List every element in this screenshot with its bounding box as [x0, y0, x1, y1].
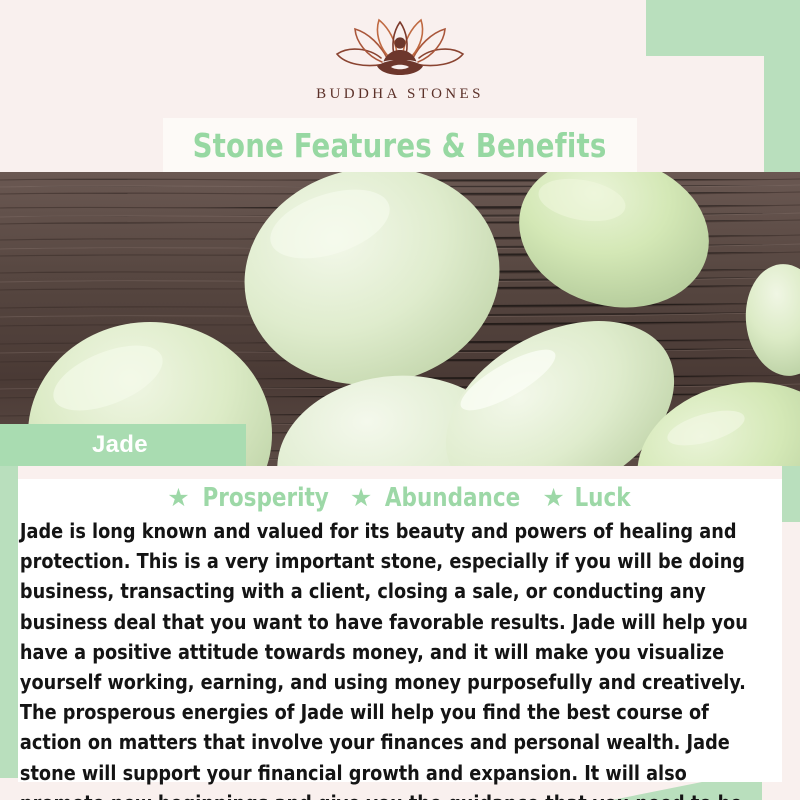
panel-top-strip — [18, 466, 782, 479]
title-banner: Stone Features & Benefits — [163, 118, 637, 172]
benefit-label: Luck — [574, 483, 630, 513]
stone-name-band: Jade — [0, 424, 246, 466]
benefit-item-prosperity: ★ Prosperity — [167, 483, 334, 513]
benefits-row: ★ Prosperity ★ Abundance ★ Luck — [18, 480, 782, 516]
jade-tumbled-stones-photo — [0, 172, 800, 466]
description-text: Jade is long known and valued for its be… — [18, 516, 755, 800]
stone-benefits-infographic: BUDDHA STONES Stone Features & Benefits — [0, 0, 800, 800]
star-icon: ★ — [350, 486, 372, 511]
benefit-label: Prosperity — [202, 483, 328, 513]
description-panel: ★ Prosperity ★ Abundance ★ Luck Jade is … — [18, 466, 782, 782]
lotus-meditation-logo-icon — [325, 16, 475, 82]
benefit-item-abundance: ★ Abundance — [350, 483, 527, 513]
page-title: Stone Features & Benefits — [193, 126, 607, 165]
benefit-item-luck: ★ Luck — [542, 483, 632, 513]
star-icon: ★ — [167, 486, 189, 511]
brand-name: BUDDHA STONES — [316, 86, 484, 103]
stone-name-label: Jade — [92, 431, 148, 459]
brand-header: BUDDHA STONES — [0, 0, 800, 118]
star-icon: ★ — [542, 486, 564, 511]
benefit-label: Abundance — [385, 483, 520, 513]
